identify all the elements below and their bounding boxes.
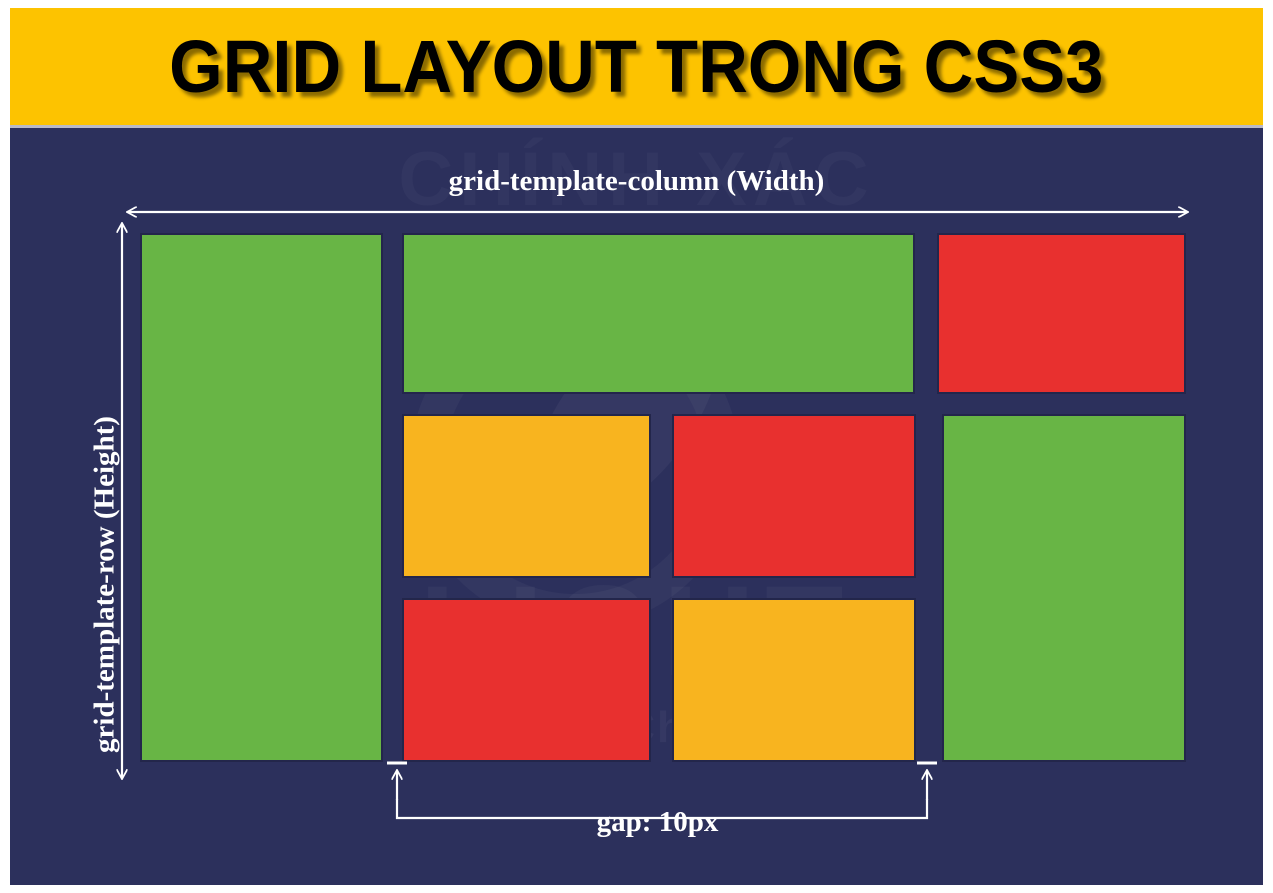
grid-cell-row3-col3 — [672, 598, 916, 762]
grid-cell-row2-col2 — [402, 414, 651, 578]
screenshot-root: GRID LAYOUT TRONG CSS3 CHÍNH XÁC LIGHT N… — [0, 0, 1273, 893]
label-gap: gap: 10px — [385, 806, 930, 839]
label-grid-template-row: grid-template-row (Height) — [89, 275, 122, 886]
page-title: GRID LAYOUT TRONG CSS3 — [169, 24, 1103, 109]
title-banner: GRID LAYOUT TRONG CSS3 — [10, 8, 1263, 125]
grid-cell-col1-tall — [140, 233, 383, 762]
grid-cell-row3-col2 — [402, 598, 651, 762]
grid-cell-row1-col2-wide — [402, 233, 915, 394]
grid-cell-row2-col3 — [672, 414, 916, 578]
grid-cell-row1-col3 — [937, 233, 1186, 394]
diagram-stage: CHÍNH XÁC LIGHT Nhanh – Chính xác — [10, 128, 1263, 885]
label-grid-template-column: grid-template-column (Width) — [10, 165, 1263, 198]
grid-cell-col4-tall — [942, 414, 1186, 762]
